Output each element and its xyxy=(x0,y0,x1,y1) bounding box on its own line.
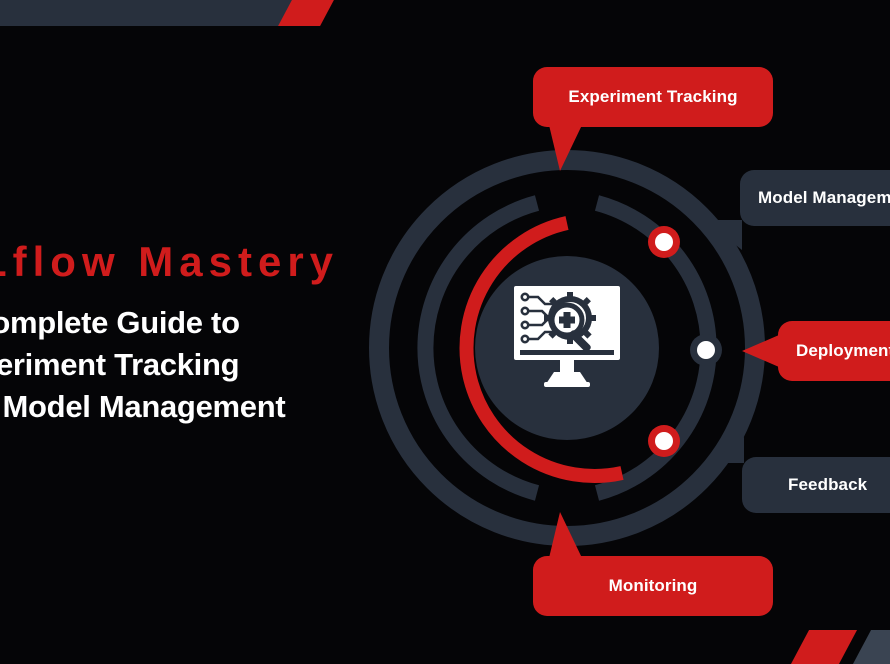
poster-canvas: MLflow Mastery A Complete Guide to Exper… xyxy=(0,0,890,664)
callout-model-management[interactable]: Model Management xyxy=(740,170,890,226)
monitor-gear-magnifier-icon xyxy=(508,282,626,392)
subtitle: A Complete Guide to Experiment Tracking … xyxy=(0,302,360,428)
headline-block: MLflow Mastery A Complete Guide to Exper… xyxy=(0,240,360,429)
node-model-management[interactable] xyxy=(648,226,680,258)
callout-monitoring[interactable]: Monitoring xyxy=(533,556,773,616)
brand-title: MLflow Mastery xyxy=(0,240,360,284)
callout-experiment-tracking[interactable]: Experiment Tracking xyxy=(533,67,773,127)
node-feedback[interactable] xyxy=(648,425,680,457)
callout-feedback[interactable]: Feedback xyxy=(742,457,890,513)
callout-pointer-icon xyxy=(710,437,744,463)
subtitle-line-3: and Model Management xyxy=(0,386,360,428)
callout-label: Model Management xyxy=(758,188,890,208)
callout-label: Feedback xyxy=(788,475,867,495)
node-deployment[interactable] xyxy=(690,334,722,366)
callout-pointer-icon xyxy=(742,335,779,367)
subtitle-line-1: A Complete Guide to xyxy=(0,302,360,344)
callout-pointer-icon xyxy=(549,512,582,558)
callout-label: Experiment Tracking xyxy=(568,87,737,107)
subtitle-line-2: Experiment Tracking xyxy=(0,344,360,386)
callout-pointer-icon xyxy=(549,125,582,171)
callout-label: Deployment xyxy=(796,341,890,361)
callout-deployment[interactable]: Deployment xyxy=(778,321,890,381)
callout-pointer-icon xyxy=(704,220,742,250)
callout-label: Monitoring xyxy=(609,576,698,596)
